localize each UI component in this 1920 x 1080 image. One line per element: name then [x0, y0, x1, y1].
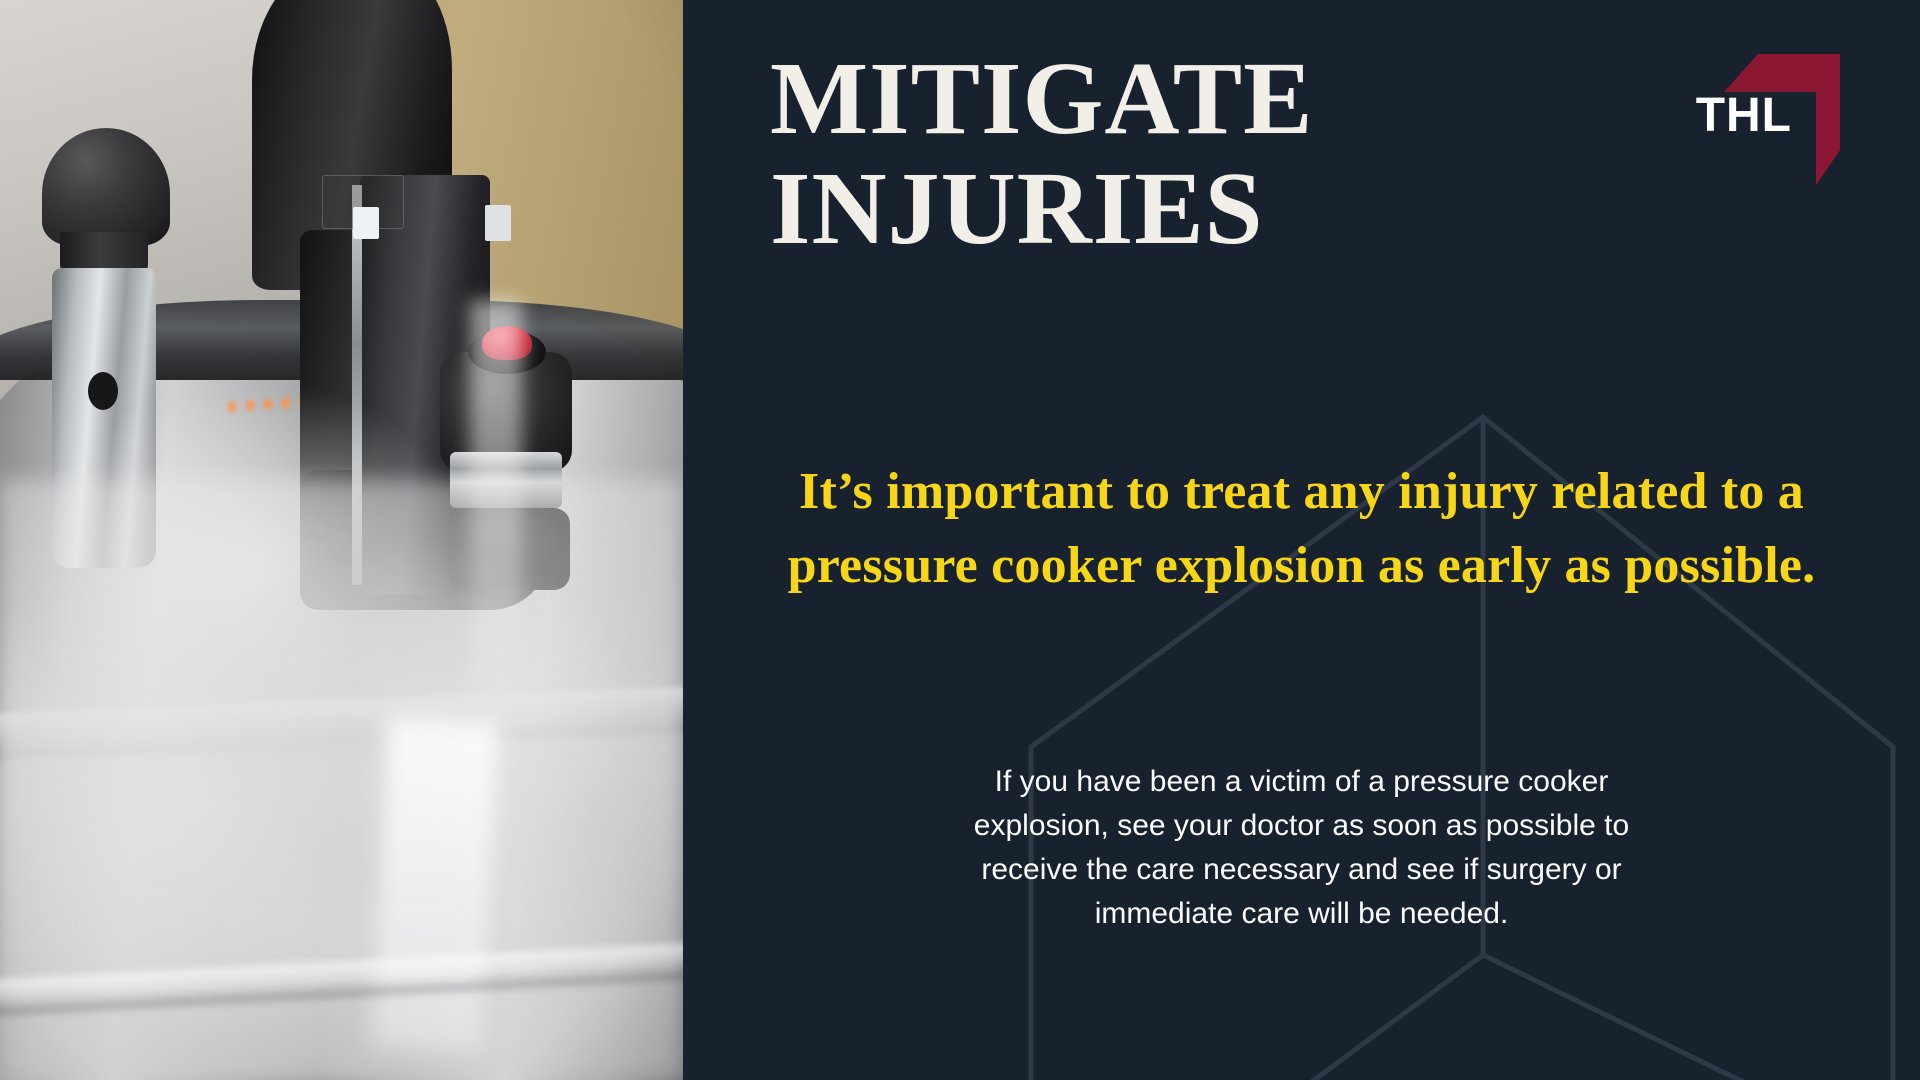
page-title: MITIGATE INJURIES	[770, 44, 1550, 264]
thl-logo-text: THL	[1696, 92, 1792, 140]
content-panel: THL MITIGATE INJURIES It’s important to …	[683, 0, 1920, 1080]
slide-canvas: THL MITIGATE INJURIES It’s important to …	[0, 0, 1920, 1080]
pressure-cooker-photo	[0, 0, 683, 1080]
page-title-line-2: INJURIES	[770, 154, 1550, 264]
body-paragraph: If you have been a victim of a pressure …	[683, 760, 1920, 936]
subheadline: It’s important to treat any injury relat…	[683, 455, 1920, 603]
page-title-line-1: MITIGATE	[770, 44, 1550, 154]
photo-vignette	[0, 0, 683, 1080]
